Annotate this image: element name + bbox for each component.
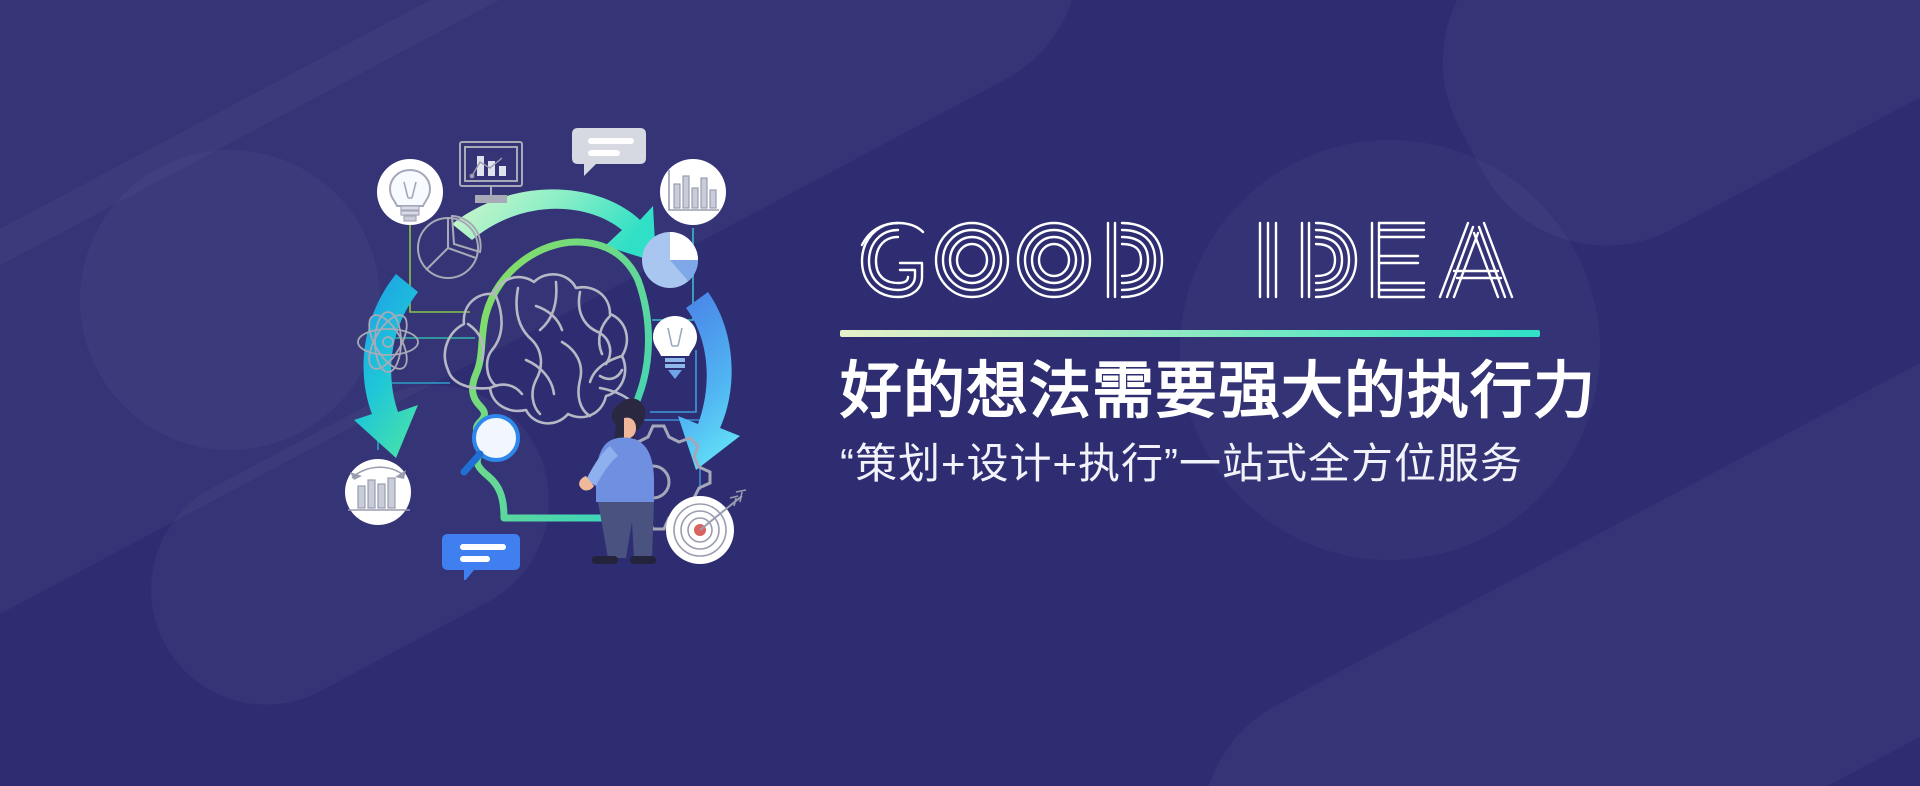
person-figure: [579, 398, 656, 564]
bar-chart-circle-icon: [660, 159, 726, 225]
headline-text: 好的想法需要强大的执行力: [840, 359, 1560, 426]
target-bullseye-icon: [666, 490, 746, 564]
gradient-divider: [840, 330, 1540, 337]
speech-bubble-blue-icon: [442, 534, 520, 580]
copy-block: 好的想法需要强大的执行力 “策划+设计+执行”一站式全方位服务: [840, 200, 1560, 488]
person-shoe: [630, 556, 656, 564]
monitor-chart-icon: [460, 142, 522, 202]
bar-chart-arrow-icon: [345, 459, 411, 525]
subline-text: “策划+设计+执行”一站式全方位服务: [840, 440, 1560, 488]
left-arrow-icon: [354, 274, 418, 458]
lightbulb-icon: [377, 159, 443, 225]
brain-idea-process-illustration: [300, 120, 760, 580]
wordmark-good-idea: [840, 200, 1540, 320]
right-arrow-icon: [678, 292, 740, 470]
magnifier-icon: [464, 416, 518, 472]
speech-bubble-gray-icon: [572, 128, 646, 176]
person-shoe: [592, 556, 618, 564]
pie-chart-filled-icon: [642, 232, 698, 288]
lightbulb-blue-icon: [653, 316, 697, 379]
promo-banner: 好的想法需要强大的执行力 “策划+设计+执行”一站式全方位服务: [0, 0, 1920, 786]
pie-chart-outline-icon: [418, 216, 481, 278]
person-trousers: [598, 502, 654, 558]
